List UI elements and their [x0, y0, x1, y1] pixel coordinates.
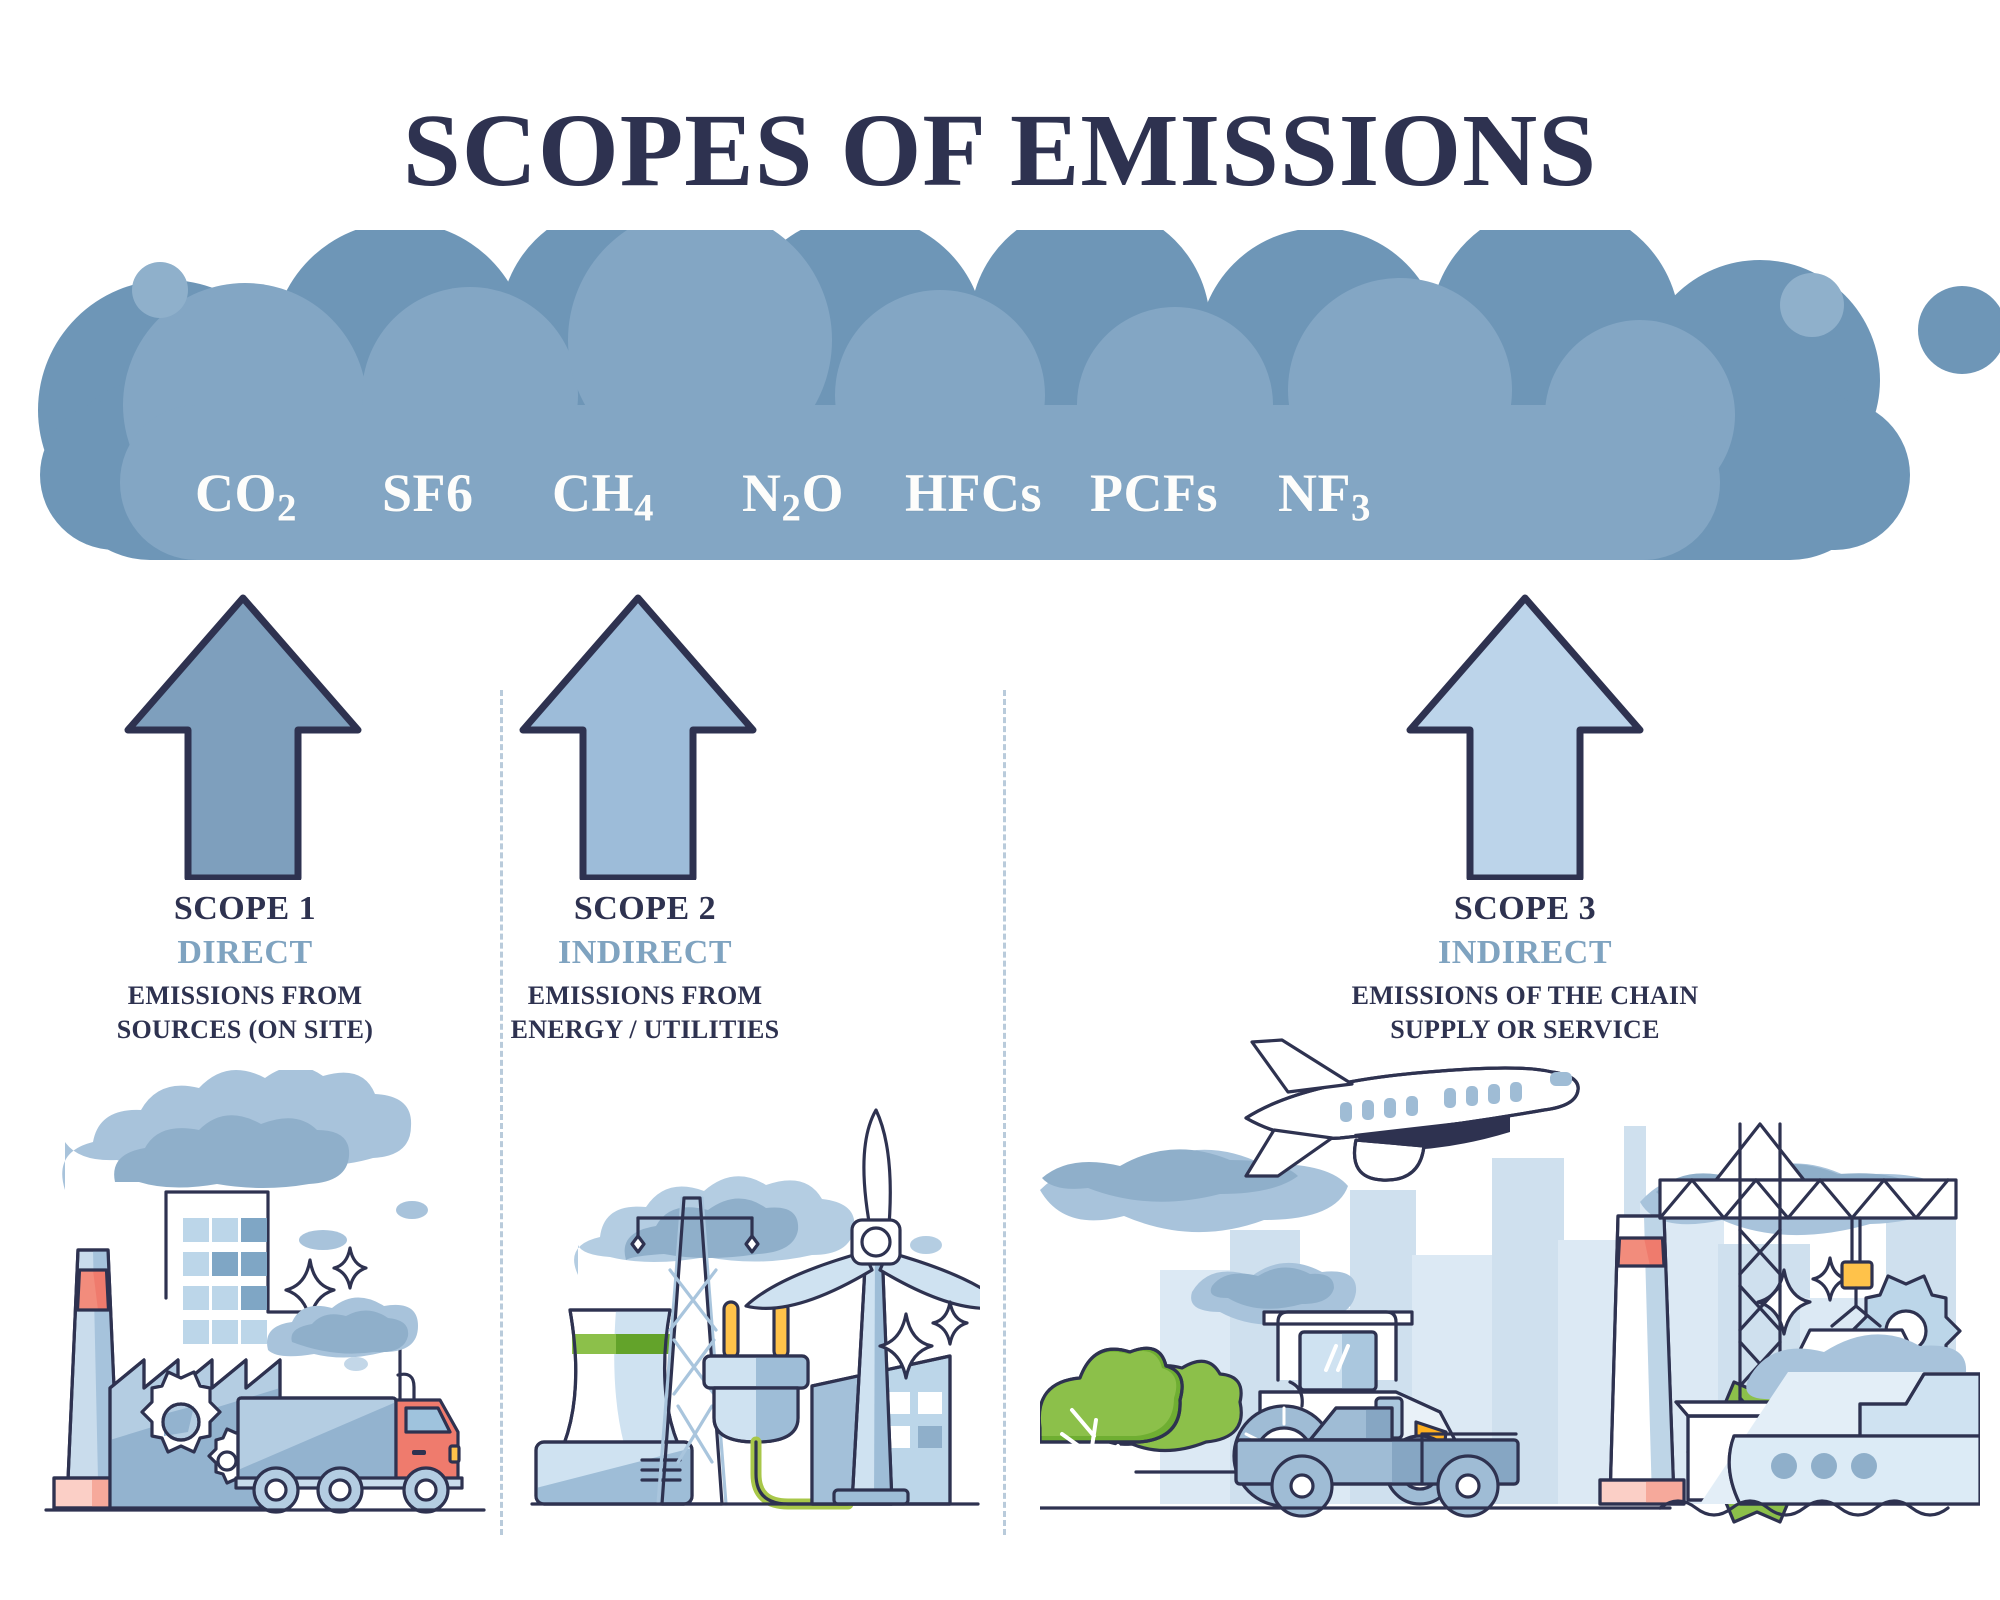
gas-label-nf3: NF3 — [1278, 462, 1371, 531]
scope-3-text-block: SCOPE 3 INDIRECT EMISSIONS OF THE CHAIN … — [1245, 888, 1805, 1047]
illustration-scope-1 — [40, 1070, 490, 1540]
scope-2-text-block: SCOPE 2 INDIRECT EMISSIONS FROM ENERGY /… — [455, 888, 835, 1047]
arrow-up-scope-3 — [1400, 590, 1650, 880]
scope-2-desc-line-1: EMISSIONS FROM — [455, 979, 835, 1013]
divider-scope-1-2 — [500, 690, 503, 1535]
scope-1-text-block: SCOPE 1 DIRECT EMISSIONS FROM SOURCES (O… — [55, 888, 435, 1047]
scope-3-desc-line-1: EMISSIONS OF THE CHAIN — [1245, 979, 1805, 1013]
gas-label-n2o: N2O — [742, 462, 844, 531]
cloud-puff-detached — [1918, 286, 2000, 374]
arrow-up-scope-1 — [118, 590, 368, 880]
gas-label-co2: CO2 — [195, 462, 297, 531]
scope-1-title: SCOPE 1 — [55, 888, 435, 931]
arrow-up-scope-2 — [513, 590, 763, 880]
scope-1-desc-line-2: SOURCES (ON SITE) — [55, 1013, 435, 1047]
gas-label-hfcs: HFCs — [905, 462, 1042, 524]
gas-label-sf6: SF6 — [382, 462, 474, 524]
scope-2-kind: INDIRECT — [455, 931, 835, 975]
scope-1-kind: DIRECT — [55, 931, 435, 975]
page-title: SCOPES OF EMISSIONS — [0, 96, 2000, 205]
gas-label-pcfs: PCFs — [1090, 462, 1218, 524]
illustration-scope-3 — [1040, 1030, 1980, 1540]
scope-2-desc-line-2: ENERGY / UTILITIES — [455, 1013, 835, 1047]
scope-1-desc-line-1: EMISSIONS FROM — [55, 979, 435, 1013]
scope-3-title: SCOPE 3 — [1245, 888, 1805, 931]
cloud-puff-small-right — [1780, 273, 1844, 337]
divider-scope-2-3 — [1003, 690, 1006, 1535]
gas-label-ch4: CH4 — [552, 462, 654, 531]
infographic-root: SCOPES OF EMISSIONS — [0, 0, 2000, 1600]
illustration-scope-2 — [530, 1070, 980, 1540]
cloud-puff-small-left — [132, 262, 188, 318]
scope-2-title: SCOPE 2 — [455, 888, 835, 931]
emissions-cloud — [0, 230, 2000, 590]
scope-3-kind: INDIRECT — [1245, 931, 1805, 975]
smoke-cloud-mid — [267, 1297, 418, 1371]
smoke-cloud-left — [1040, 1149, 1348, 1232]
